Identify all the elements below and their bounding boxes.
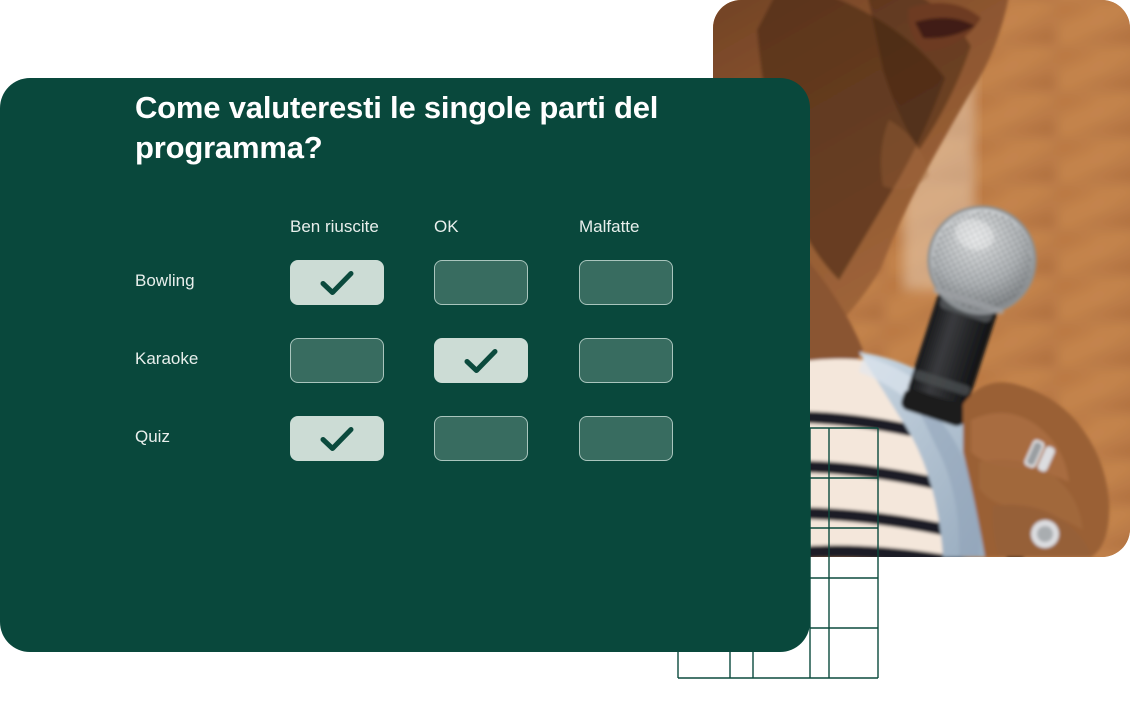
column-header-malfatte: Malfatte [579, 216, 639, 238]
option-karaoke-ben-riuscite[interactable] [290, 338, 384, 383]
row-label-karaoke: Karaoke [135, 348, 198, 370]
option-bowling-ben-riuscite[interactable] [290, 260, 384, 305]
matrix-column-headers: Ben riuscite OK Malfatte [135, 216, 755, 250]
column-header-ok: OK [434, 216, 459, 238]
page-title: Come valuteresti le singole parti del pr… [135, 88, 695, 168]
page-canvas: Come valuteresti le singole parti del pr… [0, 0, 1130, 705]
option-quiz-malfatte[interactable] [579, 416, 673, 461]
matrix-row: Karaoke [135, 328, 755, 406]
row-label-bowling: Bowling [135, 270, 195, 292]
option-karaoke-malfatte[interactable] [579, 338, 673, 383]
option-bowling-malfatte[interactable] [579, 260, 673, 305]
rating-matrix: Ben riuscite OK Malfatte Bowling [135, 216, 755, 484]
check-icon [320, 270, 354, 296]
check-icon [464, 348, 498, 374]
option-bowling-ok[interactable] [434, 260, 528, 305]
option-quiz-ok[interactable] [434, 416, 528, 461]
matrix-row: Bowling [135, 250, 755, 328]
row-label-quiz: Quiz [135, 426, 170, 448]
option-quiz-ben-riuscite[interactable] [290, 416, 384, 461]
check-icon [320, 426, 354, 452]
column-header-ben-riuscite: Ben riuscite [290, 216, 379, 238]
option-karaoke-ok[interactable] [434, 338, 528, 383]
matrix-row: Quiz [135, 406, 755, 484]
